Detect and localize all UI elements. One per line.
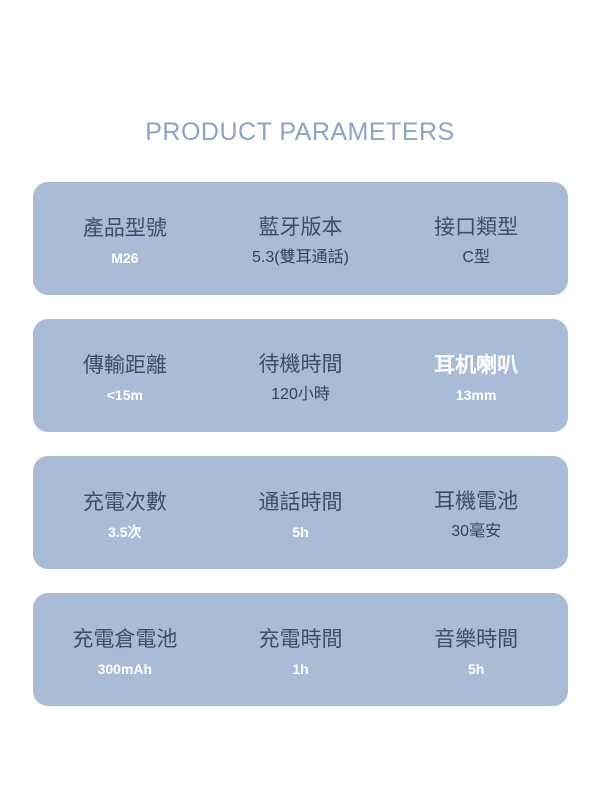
spec-label: 耳机喇叭 bbox=[434, 355, 518, 377]
spec-label: 音樂時間 bbox=[434, 629, 518, 651]
spec-label: 充電倉電池 bbox=[72, 629, 177, 651]
table-row: 產品型號 M26 藍牙版本 5.3(雙耳通話) 接口類型 C型 bbox=[33, 182, 568, 295]
spec-label: 通話時間 bbox=[259, 492, 343, 514]
spec-label: 充電時間 bbox=[259, 629, 343, 651]
spec-cell-bluetooth-version: 藍牙版本 5.3(雙耳通話) bbox=[213, 211, 389, 267]
spec-cell-talk-time: 通話時間 5h bbox=[213, 486, 389, 540]
spec-cell-standby-time: 待機時間 120小時 bbox=[213, 348, 389, 404]
spec-cell-charging-case-battery: 充電倉電池 300mAh bbox=[37, 623, 213, 677]
spec-cell-earphone-battery: 耳機電池 30毫安 bbox=[388, 485, 564, 541]
spec-cell-interface-type: 接口類型 C型 bbox=[388, 211, 564, 267]
table-row: 充電次數 3.5次 通話時間 5h 耳機電池 30毫安 bbox=[33, 456, 568, 569]
spec-label: 藍牙版本 bbox=[259, 217, 343, 239]
spec-label: 傳輸距離 bbox=[83, 355, 167, 377]
table-row: 充電倉電池 300mAh 充電時間 1h 音樂時間 5h bbox=[33, 593, 568, 706]
spec-value: C型 bbox=[462, 250, 490, 267]
page-title: PRODUCT PARAMETERS bbox=[0, 118, 600, 147]
spec-value: 300mAh bbox=[98, 662, 152, 677]
specification-table: 產品型號 M26 藍牙版本 5.3(雙耳通話) 接口類型 C型 傳輸距離 <15… bbox=[33, 182, 568, 706]
spec-value: 5.3(雙耳通話) bbox=[252, 250, 349, 267]
spec-cell-charge-cycles: 充電次數 3.5次 bbox=[37, 486, 213, 540]
spec-label: 待機時間 bbox=[259, 354, 343, 376]
spec-label: 耳機電池 bbox=[434, 491, 518, 513]
spec-cell-product-model: 產品型號 M26 bbox=[37, 212, 213, 266]
spec-value: 120小時 bbox=[271, 387, 330, 404]
spec-value: 3.5次 bbox=[108, 525, 141, 540]
spec-value: <15m bbox=[107, 388, 143, 403]
product-parameters-sheet: PRODUCT PARAMETERS 產品型號 M26 藍牙版本 5.3(雙耳通… bbox=[0, 0, 600, 791]
spec-value: M26 bbox=[111, 251, 138, 266]
spec-cell-music-time: 音樂時間 5h bbox=[388, 623, 564, 677]
spec-label: 產品型號 bbox=[83, 218, 167, 240]
spec-cell-earphone-speaker: 耳机喇叭 13mm bbox=[388, 349, 564, 403]
spec-label: 充電次數 bbox=[83, 492, 167, 514]
spec-value: 13mm bbox=[456, 388, 496, 403]
table-row: 傳輸距離 <15m 待機時間 120小時 耳机喇叭 13mm bbox=[33, 319, 568, 432]
spec-cell-transmission-distance: 傳輸距離 <15m bbox=[37, 349, 213, 403]
spec-value: 5h bbox=[292, 525, 308, 540]
spec-label: 接口類型 bbox=[434, 217, 518, 239]
spec-value: 1h bbox=[292, 662, 308, 677]
spec-value: 30毫安 bbox=[451, 524, 501, 541]
spec-value: 5h bbox=[468, 662, 484, 677]
spec-cell-charging-time: 充電時間 1h bbox=[213, 623, 389, 677]
